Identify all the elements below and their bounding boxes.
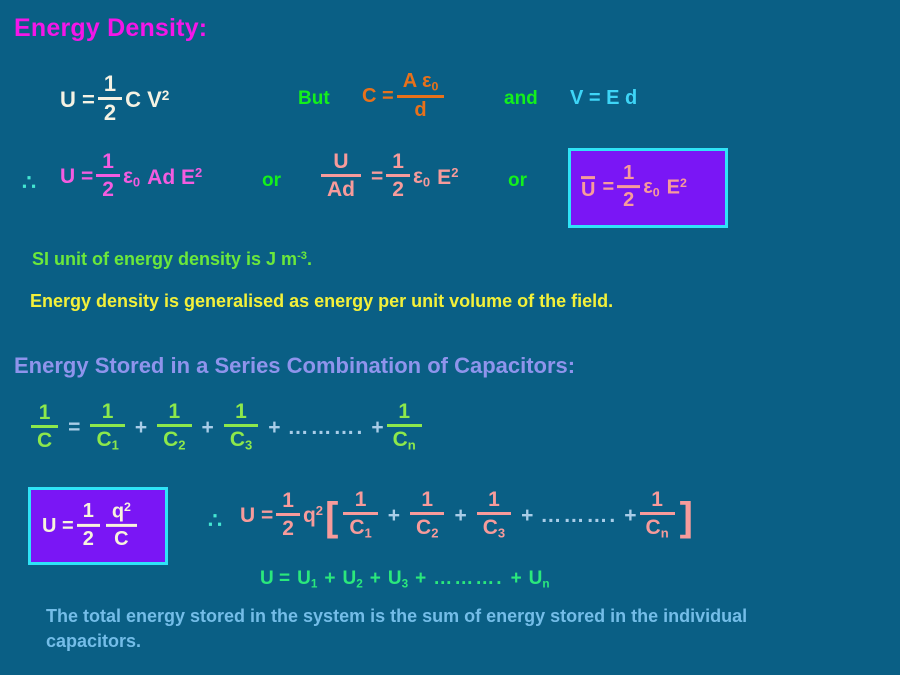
fraction-numerator: 1 bbox=[96, 151, 120, 172]
fraction-one-half: 1 2 bbox=[96, 151, 120, 201]
fraction-numerator: 1 bbox=[386, 151, 410, 172]
equation-tail: E2 bbox=[437, 165, 458, 190]
term-u1: U1 bbox=[297, 568, 317, 590]
plus-sign: + bbox=[454, 504, 466, 528]
equation-energy-capacitor: U = 1 2 C V2 bbox=[60, 74, 169, 126]
subscript-zero: 0 bbox=[653, 186, 660, 200]
fraction-denominator: 2 bbox=[386, 179, 410, 200]
fraction-aeps-over-d: A ε0 d bbox=[397, 71, 445, 121]
subscript: 3 bbox=[498, 526, 505, 541]
subscript: 2 bbox=[178, 438, 185, 453]
equation-total-energy-sum: U = U1 + U2 + U3 + ………. + Un bbox=[260, 568, 550, 590]
fraction-numerator: 1 bbox=[90, 401, 124, 422]
fraction-bar bbox=[96, 174, 120, 177]
fraction-bar bbox=[387, 424, 422, 427]
equation-tail: E2 bbox=[667, 176, 687, 199]
equation-energy-density-ratio: U Ad = 1 2 ε0 E2 bbox=[318, 152, 458, 202]
fraction-one-over-c: 1 C bbox=[31, 402, 58, 452]
fraction-one-half: 1 2 bbox=[98, 73, 122, 125]
fraction-numerator: 1 bbox=[157, 401, 191, 422]
plus-sign: + bbox=[268, 416, 280, 440]
fraction-denominator: C2 bbox=[157, 429, 191, 452]
equation-tail: Ad E2 bbox=[147, 165, 202, 190]
label-but: But bbox=[298, 88, 330, 110]
fraction-one-over-c3: 1 C3 bbox=[477, 489, 511, 540]
fraction-numerator: 1 bbox=[410, 489, 444, 510]
statement-total-energy-note: The total energy stored in the system is… bbox=[46, 604, 836, 654]
fraction-numerator: U bbox=[321, 151, 361, 172]
fraction-denominator: Cn bbox=[640, 517, 675, 540]
fraction-numerator: A ε0 bbox=[397, 71, 445, 93]
subscript: 2 bbox=[431, 526, 438, 541]
subscript: 2 bbox=[356, 577, 363, 590]
subscript: n bbox=[542, 577, 549, 590]
epsilon-naught: ε0 bbox=[413, 165, 430, 190]
fraction-bar bbox=[224, 424, 258, 427]
equation-lhs: U = bbox=[42, 515, 74, 538]
boxed-equation-content: U = 1 2 q2 C bbox=[42, 502, 140, 550]
subscript: 1 bbox=[365, 526, 372, 541]
term-un: Un bbox=[529, 568, 550, 590]
therefore-symbol-2: ∴ bbox=[208, 508, 222, 534]
fraction-one-over-c1: 1 C1 bbox=[90, 401, 124, 452]
fraction-bar bbox=[321, 174, 361, 177]
fraction-one-over-cn: 1 Cn bbox=[640, 489, 675, 540]
fraction-bar bbox=[386, 174, 410, 177]
fraction-denominator: C1 bbox=[343, 517, 377, 540]
boxed-energy-charge-formula: U = 1 2 q2 C bbox=[28, 487, 168, 565]
fraction-denominator: 2 bbox=[617, 191, 640, 211]
plus-sign: + bbox=[324, 568, 335, 590]
fraction-denominator: Ad bbox=[321, 179, 361, 200]
exponent-minus-three: -3 bbox=[297, 250, 307, 262]
plus-sign: + bbox=[511, 568, 522, 590]
fraction-denominator: C bbox=[106, 529, 137, 549]
plus-sign: + bbox=[371, 416, 383, 440]
equation-lhs: U = bbox=[60, 87, 95, 113]
label-or-1: or bbox=[262, 170, 281, 192]
boxed-energy-density-result: U = 1 2 ε0 E2 bbox=[568, 148, 728, 228]
ellipsis: ………. bbox=[288, 416, 365, 440]
label-or-2: or bbox=[508, 170, 527, 192]
fraction-bar bbox=[477, 512, 511, 515]
fraction-bar bbox=[31, 425, 58, 428]
fraction-bar bbox=[617, 186, 640, 189]
fraction-denominator: C3 bbox=[477, 517, 511, 540]
exponent: 2 bbox=[316, 503, 323, 518]
fraction-numerator: 1 bbox=[98, 73, 122, 95]
fraction-denominator: 2 bbox=[96, 179, 120, 200]
fraction-one-over-c1: 1 C1 bbox=[343, 489, 377, 540]
term-u2: U2 bbox=[343, 568, 363, 590]
plus-sign: + bbox=[202, 416, 214, 440]
plus-sign: + bbox=[415, 568, 426, 590]
equals-sign: = bbox=[371, 165, 383, 189]
epsilon-naught: ε0 bbox=[643, 176, 659, 199]
ellipsis: ………. bbox=[540, 504, 617, 528]
section-heading-series: Energy Stored in a Series Combination of… bbox=[14, 353, 575, 379]
exponent: 2 bbox=[451, 165, 458, 180]
fraction-denominator: 2 bbox=[276, 518, 300, 539]
term-u3: U3 bbox=[388, 568, 408, 590]
equation-voltage: V = E d bbox=[570, 87, 637, 110]
subscript: 1 bbox=[311, 577, 318, 590]
plus-sign: + bbox=[370, 568, 381, 590]
fraction-bar bbox=[77, 524, 100, 527]
equation-lhs: C = bbox=[362, 85, 394, 108]
fraction-bar bbox=[106, 524, 137, 527]
equation-series-energy-expanded: U = 1 2 q2 [ 1 C1 + 1 C2 + 1 C3 + bbox=[240, 490, 695, 541]
boxed-equation-content: U = 1 2 ε0 E2 bbox=[581, 164, 687, 212]
statement-si-unit: SI unit of energy density is J m-3. bbox=[32, 249, 312, 270]
exponent: 2 bbox=[680, 176, 687, 190]
fraction-denominator: d bbox=[397, 100, 445, 120]
therefore-symbol: ∴ bbox=[22, 170, 36, 196]
fraction-numerator: 1 bbox=[387, 401, 422, 422]
fraction-bar bbox=[157, 424, 191, 427]
subscript-zero: 0 bbox=[423, 174, 430, 189]
equation-series-reciprocal: 1 C = 1 C1 + 1 C2 + 1 C3 + ………. bbox=[28, 402, 425, 453]
equation-energy-expanded: U = 1 2 ε0 Ad E2 bbox=[60, 152, 202, 202]
fraction-numerator: 1 bbox=[77, 501, 100, 521]
fraction-denominator: C2 bbox=[410, 517, 444, 540]
equation-lhs: U = bbox=[260, 568, 290, 590]
charge-squared: q2 bbox=[303, 503, 323, 528]
fraction-numerator: 1 bbox=[31, 402, 58, 423]
fraction-one-over-c2: 1 C2 bbox=[410, 489, 444, 540]
subscript: 3 bbox=[245, 438, 252, 453]
fraction-one-over-c3: 1 C3 bbox=[224, 401, 258, 452]
fraction-denominator: C1 bbox=[90, 429, 124, 452]
equation-lhs: U = bbox=[240, 504, 273, 528]
fraction-bar bbox=[343, 512, 377, 515]
plus-sign: + bbox=[388, 504, 400, 528]
fraction-bar bbox=[276, 513, 300, 516]
exponent: 2 bbox=[195, 165, 202, 180]
fraction-numerator: q2 bbox=[106, 501, 137, 522]
u-bar-symbol: U bbox=[581, 176, 595, 200]
fraction-bar bbox=[90, 424, 124, 427]
fraction-bar bbox=[397, 95, 445, 98]
fraction-numerator: 1 bbox=[640, 489, 675, 510]
fraction-one-half: 1 2 bbox=[77, 501, 100, 549]
fraction-one-over-c2: 1 C2 bbox=[157, 401, 191, 452]
fraction-numerator: 1 bbox=[276, 490, 300, 511]
epsilon-naught: ε0 bbox=[123, 165, 140, 190]
fraction-one-half: 1 2 bbox=[276, 490, 300, 540]
fraction-denominator: C3 bbox=[224, 429, 258, 452]
subscript: 3 bbox=[402, 577, 409, 590]
fraction-qsq-over-c: q2 C bbox=[106, 501, 137, 549]
fraction-one-over-cn: 1 Cn bbox=[387, 401, 422, 452]
fraction-numerator: 1 bbox=[477, 489, 511, 510]
plus-sign: + bbox=[135, 416, 147, 440]
equation-lhs: U = bbox=[60, 165, 93, 189]
subscript-zero: 0 bbox=[133, 174, 140, 189]
subscript-zero: 0 bbox=[431, 79, 438, 93]
page-title: Energy Density: bbox=[14, 14, 207, 43]
exponent: 2 bbox=[162, 88, 170, 103]
fraction-denominator: C bbox=[31, 430, 58, 451]
ellipsis: ………. bbox=[433, 568, 503, 590]
fraction-numerator: 1 bbox=[617, 163, 640, 183]
subscript: n bbox=[661, 526, 669, 541]
slide-canvas: Energy Density: U = 1 2 C V2 But C = A ε… bbox=[0, 0, 900, 675]
exponent: 2 bbox=[124, 500, 131, 514]
fraction-bar bbox=[410, 512, 444, 515]
subscript: 1 bbox=[112, 438, 119, 453]
fraction-denominator: 2 bbox=[77, 529, 100, 549]
statement-generalised: Energy density is generalised as energy … bbox=[30, 291, 613, 312]
fraction-one-half: 1 2 bbox=[386, 151, 410, 201]
fraction-numerator: 1 bbox=[343, 489, 377, 510]
fraction-denominator: 2 bbox=[98, 102, 122, 124]
equation-capacitance: C = A ε0 d bbox=[362, 72, 447, 122]
fraction-bar bbox=[640, 512, 675, 515]
plus-sign: + bbox=[521, 504, 533, 528]
fraction-one-half: 1 2 bbox=[617, 163, 640, 211]
equals-sign: = bbox=[602, 177, 614, 200]
subscript: n bbox=[408, 438, 416, 453]
equals-sign: = bbox=[68, 416, 80, 440]
label-and: and bbox=[504, 88, 538, 110]
plus-sign: + bbox=[624, 504, 636, 528]
fraction-u-over-ad: U Ad bbox=[321, 151, 361, 201]
fraction-denominator: Cn bbox=[387, 429, 422, 452]
fraction-numerator: 1 bbox=[224, 401, 258, 422]
equation-rhs: C V2 bbox=[125, 87, 169, 113]
